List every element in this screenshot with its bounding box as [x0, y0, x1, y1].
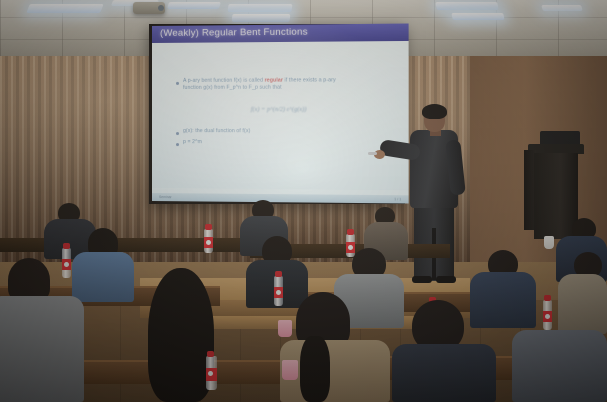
ceiling-light-panel	[435, 2, 498, 10]
bottle-label	[346, 242, 355, 253]
bottle-label	[274, 287, 283, 298]
slide-bullet-text: g(x): the dual function of f(x)	[183, 128, 250, 135]
bottle-cap	[347, 229, 354, 235]
ceiling-light-panel	[227, 4, 292, 12]
water-bottle	[204, 229, 213, 253]
bottle-label	[204, 237, 213, 248]
presentation-remote	[368, 152, 377, 155]
presenter-shoe	[436, 276, 456, 283]
audience-ponytail	[300, 336, 330, 402]
ceiling-light-panel	[232, 14, 291, 22]
water-bottle	[274, 276, 283, 306]
bullet-dot-icon	[176, 143, 179, 146]
audience-body	[392, 344, 496, 402]
slide-bullet-text: A p-ary bent function f(x) is called reg…	[183, 77, 336, 92]
slide-title: (Weakly) Regular Bent Functions	[160, 26, 308, 38]
ceiling-light-panel	[451, 13, 504, 20]
audience-body	[0, 296, 84, 402]
projector-lens	[158, 5, 164, 11]
audience-body	[72, 252, 134, 302]
slide-bullet: p = 2^m	[176, 139, 381, 147]
bottle-label	[543, 311, 552, 322]
bottle-label	[62, 259, 71, 270]
audience-body	[470, 272, 536, 328]
pink-cup	[282, 360, 298, 380]
projection-screen: (Weakly) Regular Bent Functions A p-ary …	[152, 23, 409, 203]
bullet-dot-icon	[176, 81, 179, 84]
slide-bullet: A p-ary bent function f(x) is called reg…	[176, 77, 390, 92]
audience-body	[512, 330, 607, 402]
bottle-cap	[207, 351, 214, 357]
bottle-cap	[544, 295, 551, 301]
water-bottle	[206, 356, 217, 390]
bottle-cap	[63, 243, 70, 249]
ceiling-light-panel	[26, 4, 104, 13]
presenter-hair	[422, 104, 447, 119]
ceiling-light-panel	[167, 2, 221, 9]
slide-body: A p-ary bent function f(x) is called reg…	[152, 41, 409, 190]
water-bottle	[346, 234, 355, 257]
slide-bullet-text: p = 2^m	[183, 139, 202, 146]
bottle-cap	[275, 271, 282, 277]
bullet-dot-icon	[176, 132, 179, 135]
slide-formula: f(x) = p^(n/2) ε^(g(x))	[152, 106, 409, 113]
water-bottle	[543, 300, 552, 330]
slide-bullet: g(x): the dual function of f(x)	[176, 128, 381, 136]
bottle-label	[206, 368, 217, 381]
slide-footer-left: Seminar	[159, 195, 172, 199]
audience-body	[558, 274, 607, 334]
pink-cup	[278, 320, 292, 337]
slide-footer-right: 1 / 1	[394, 197, 401, 201]
bottle-cap	[205, 224, 212, 230]
water-bottle	[62, 248, 71, 278]
audience-head	[148, 268, 214, 402]
ceiling-light-panel	[541, 5, 583, 11]
paper-cup	[544, 236, 554, 249]
presenter-shoe	[412, 276, 432, 283]
lecture-hall-photo: (Weakly) Regular Bent Functions A p-ary …	[0, 0, 607, 402]
